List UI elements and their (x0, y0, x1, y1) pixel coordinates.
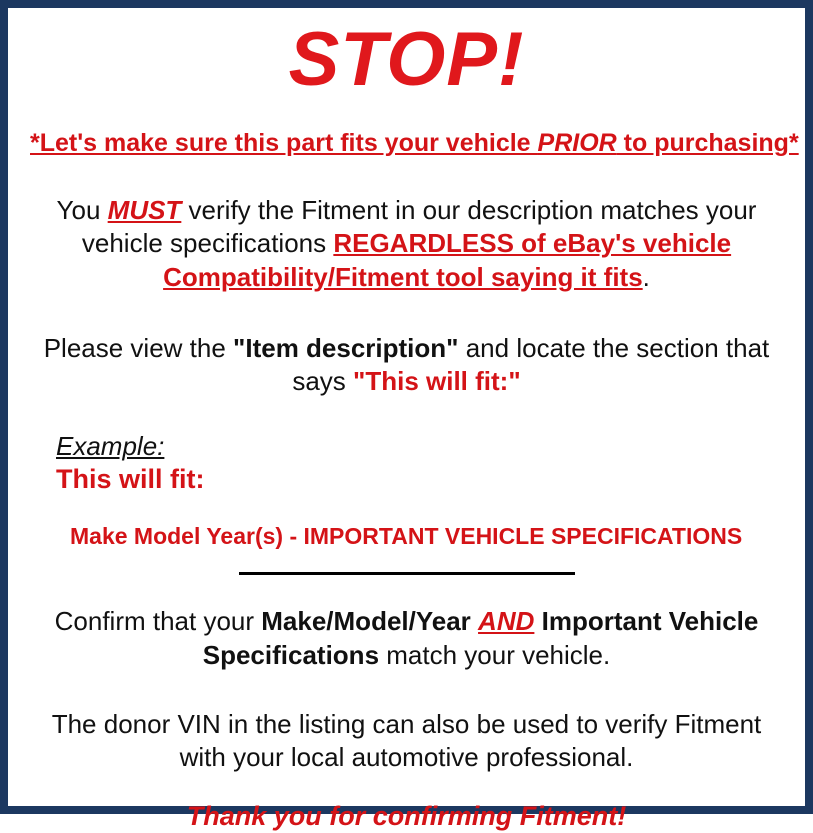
thank-you-line: Thank you for confirming Fitment! (30, 800, 783, 832)
confirm-text-2 (471, 606, 478, 636)
example-block: Example: This will fit: Make Model Year(… (30, 432, 783, 550)
tagline-text-before: *Let's make sure this part fits your veh… (30, 129, 538, 157)
example-label: Example: (56, 432, 783, 461)
must-text-3: . (643, 262, 650, 292)
tagline-text-after: to purchasing* (617, 129, 799, 157)
confirm-text-4: match your vehicle. (379, 640, 610, 670)
itemdesc-text-1: Please view the (44, 333, 233, 363)
tagline-emphasis-prior: PRIOR (538, 129, 617, 157)
donor-vin-paragraph: The donor VIN in the listing can also be… (30, 708, 783, 775)
example-fit-heading: This will fit: (56, 463, 783, 497)
tagline: *Let's make sure this part fits your veh… (30, 128, 783, 158)
horizontal-divider (239, 572, 575, 575)
example-spec-line: Make Model Year(s) - IMPORTANT VEHICLE S… (70, 523, 783, 551)
item-description-emphasis: "Item description" (233, 333, 458, 363)
make-model-year-emphasis: Make/Model/Year (261, 606, 471, 636)
item-description-paragraph: Please view the "Item description" and l… (30, 332, 783, 399)
fitment-notice-card: STOP! *Let's make sure this part fits yo… (0, 0, 813, 814)
divider-wrapper (30, 572, 783, 575)
must-text-1: You (57, 195, 108, 225)
this-will-fit-quote: "This will fit:" (353, 366, 521, 396)
confirm-text-3 (534, 606, 541, 636)
page-title: STOP! (30, 22, 783, 98)
notice-content: STOP! *Let's make sure this part fits yo… (8, 22, 805, 820)
confirm-paragraph: Confirm that your Make/Model/Year AND Im… (30, 605, 783, 672)
must-emphasis: MUST (108, 195, 182, 225)
must-verify-paragraph: You MUST verify the Fitment in our descr… (30, 194, 783, 294)
confirm-text-1: Confirm that your (55, 606, 262, 636)
and-emphasis: AND (478, 606, 534, 636)
